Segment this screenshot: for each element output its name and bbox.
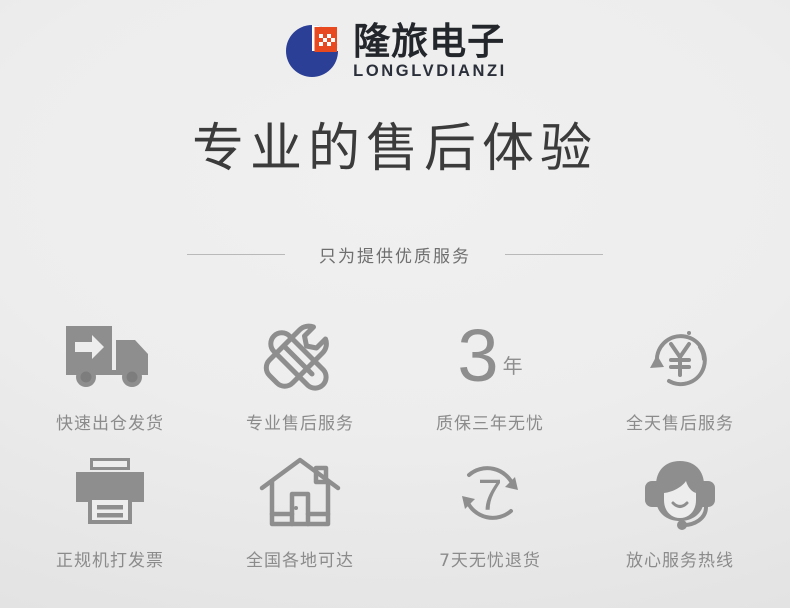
feature-label: 7天无忧退货 [439, 546, 541, 571]
subtitle-row: 只为提供优质服务 [187, 242, 603, 267]
warranty-unit: 年 [503, 350, 523, 379]
divider-right [505, 254, 603, 255]
printer-invoice-icon [68, 454, 152, 532]
divider-left [187, 254, 285, 255]
wrench-screwdriver-icon [257, 317, 343, 395]
return-days-number: 7 [478, 471, 502, 520]
yen-refund-circle-icon [639, 317, 721, 395]
seven-day-return-icon: 7 [447, 454, 533, 532]
feature-item-three-year-warranty: 3 年 质保三年无忧 [402, 317, 578, 454]
brand-name-cn: 隆旅电子 [353, 23, 507, 60]
after-sales-banner: 隆旅电子 LONGLVDIANZI 专业的售后体验 只为提供优质服务 [0, 0, 790, 608]
feature-item-fast-shipping: 快速出仓发货 [22, 317, 198, 454]
page-title: 专业的售后体验 [192, 106, 598, 181]
brand-wordmark: 隆旅电子 LONGLVDIANZI [353, 23, 507, 80]
warranty-number: 3 [457, 326, 498, 385]
feature-item-official-invoice: 正规机打发票 [22, 454, 198, 591]
feature-item-nationwide-delivery: 全国各地可达 [212, 454, 388, 591]
feature-item-seven-day-return: 7 7天无忧退货 [402, 454, 578, 591]
feature-label: 快速出仓发货 [56, 409, 164, 434]
longlv-circle-logo-icon [283, 22, 341, 80]
feature-item-support-hotline: 放心服务热线 [592, 454, 768, 591]
page-subtitle: 只为提供优质服务 [319, 242, 471, 267]
feature-label: 全天售后服务 [626, 409, 734, 434]
feature-label: 正规机打发票 [56, 546, 164, 571]
feature-label: 放心服务热线 [626, 546, 734, 571]
feature-label: 专业售后服务 [246, 409, 354, 434]
brand-logo: 隆旅电子 LONGLVDIANZI [283, 22, 507, 80]
house-nationwide-icon [256, 454, 344, 532]
feature-label: 质保三年无忧 [436, 409, 544, 434]
brand-name-en: LONGLVDIANZI [353, 63, 507, 80]
feature-item-professional-service: 专业售后服务 [212, 317, 388, 454]
delivery-truck-icon [62, 317, 158, 395]
feature-label: 全国各地可达 [246, 546, 354, 571]
feature-item-allday-service: 全天售后服务 [592, 317, 768, 454]
feature-grid: 快速出仓发货 专业售后服务 3 [15, 317, 775, 591]
three-year-warranty-icon: 3 年 [457, 317, 522, 395]
headset-support-icon [638, 454, 722, 532]
